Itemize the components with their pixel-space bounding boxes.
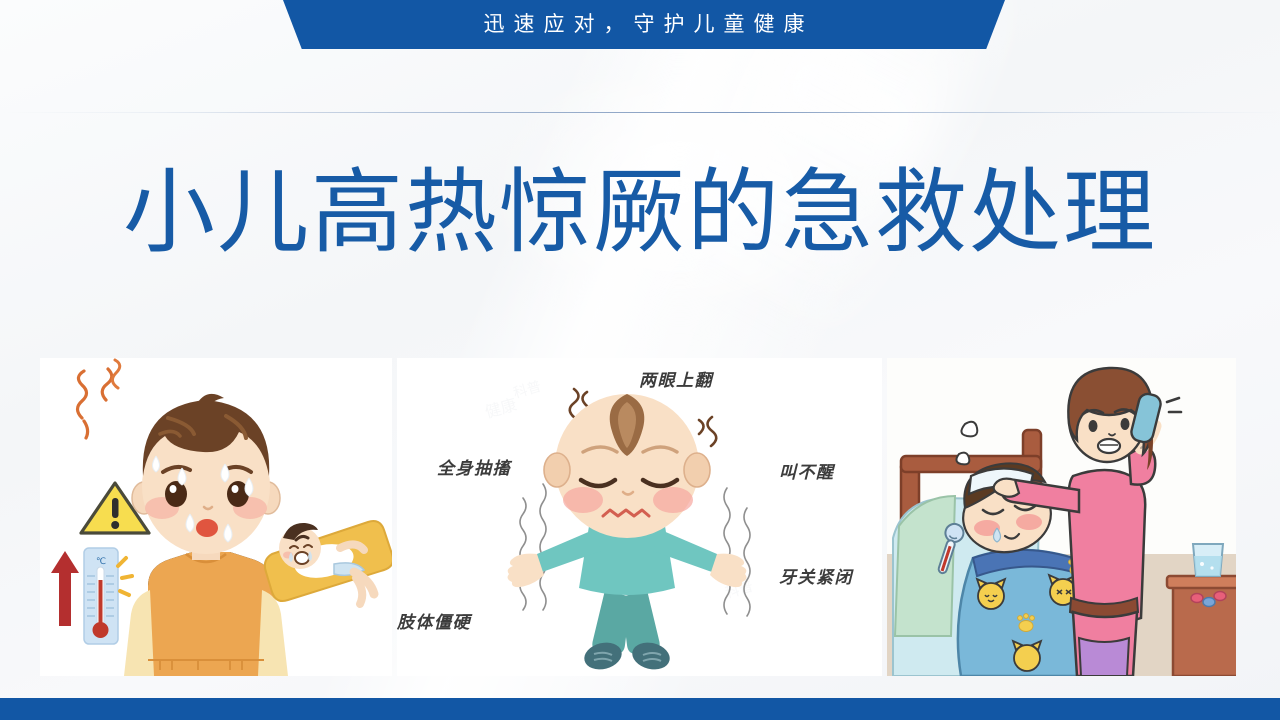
water-glass-icon [1193,544,1223,576]
seizure-label-jaw-clenched: 牙关紧闭 [779,563,853,588]
fever-boy-illustration: ℃ [40,358,392,676]
header-divider [0,112,1280,113]
page-title-container: 小儿高热惊厥的急救处理 [0,148,1280,278]
seizure-label-unresponsive: 叫不醒 [779,458,835,483]
seizure-label-limb-rigidity: 肢体僵硬 [397,608,471,633]
header-banner: 迅速应对，守护儿童健康 [283,0,1005,49]
header-banner-text: 迅速应对，守护儿童健康 [475,14,814,35]
footer-bar [0,698,1280,720]
slide-root: 迅速应对，守护儿童健康 小儿高热惊厥的急救处理 [0,0,1280,720]
illustration-panel-seizure-signs: 健康 科普 科普 [397,358,882,676]
nightstand [1167,576,1236,676]
svg-text:℃: ℃ [96,557,106,567]
page-title: 小儿高热惊厥的急救处理 [123,165,1157,262]
seizure-label-eyes-rolled: 两眼上翻 [639,366,713,391]
illustration-strip: ℃ [40,358,1236,676]
mother-calling-illustration [887,358,1236,676]
seizure-label-convulsions: 全身抽搐 [437,454,511,479]
illustration-panel-mother-calling [887,358,1236,676]
illustration-panel-fever-boy: ℃ [40,358,392,676]
